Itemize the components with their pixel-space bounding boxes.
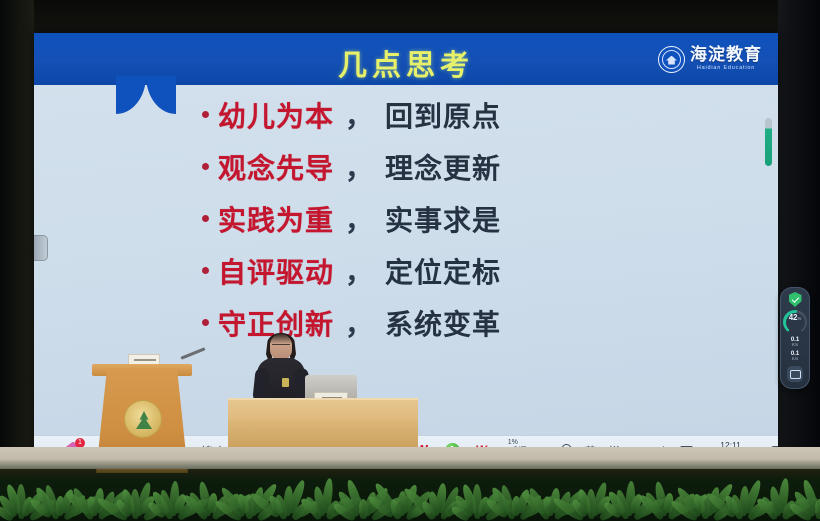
bullet-keyword: 实践为重 [218,199,334,239]
bullet-comma: ， [343,303,376,343]
list-item: 实践为重 ， 实事求是 [202,199,642,251]
logo-name-cn: 海淀教育 [690,47,762,64]
slide-bullet-list: 幼儿为本 ， 回到原点 观念先导 ， 理念更新 实践为重 ， 实事求是 [202,95,642,355]
conference-hall-scene: 几点思考 海淀教育 Haidian Education 幼儿为本 ， 回到原点 … [0,0,820,521]
bullet-keyword: 自评驱动 [218,251,334,291]
haidian-seal-icon [658,46,685,73]
memory-percent-value: 42 [789,313,798,322]
ceiling-shadow [0,0,820,34]
cpu-usage-percent: 1% [499,439,527,446]
shield-check-icon[interactable] [789,292,802,307]
screen-edge-tab-icon[interactable] [34,235,48,261]
memory-percent-symbol: % [797,316,801,321]
scroll-indicator-icon[interactable] [765,118,772,166]
bullet-dot-icon [202,111,209,118]
bullet-detail: 回到原点 [385,95,501,135]
network-upload: 0.1 K/s [791,337,799,348]
bullet-comma: ， [343,95,376,135]
potted-plant [792,469,820,521]
bullet-comma: ， [343,251,376,291]
camera-icon[interactable] [787,366,803,382]
logo-text: 海淀教育 Haidian Education [690,47,762,72]
podium-emblem-icon [124,400,162,438]
presenter-glasses [272,344,290,348]
list-item: 自评驱动 ， 定位定标 [202,251,642,303]
network-download: 0.1 K/s [791,351,799,362]
bullet-comma: ， [343,147,376,187]
list-item: 幼儿为本 ， 回到原点 [202,95,642,147]
plant-row [0,459,820,521]
left-curtain [0,0,34,470]
haidian-education-logo: 海淀教育 Haidian Education [658,42,762,76]
network-upload-unit: K/s [791,343,799,348]
bullet-detail: 定位定标 [385,251,501,291]
status-badge: 1 [75,438,85,448]
bullet-detail: 理念更新 [385,147,501,187]
presenter-badge [282,378,289,387]
bullet-dot-icon [202,215,209,222]
bullet-detail: 系统变革 [385,303,501,343]
presenter [252,334,310,406]
system-monitor-widget[interactable]: 42% 0.1 K/s 0.1 K/s [780,287,810,389]
bullet-comma: ， [343,199,376,239]
list-item: 观念先导 ， 理念更新 [202,147,642,199]
bullet-dot-icon [202,319,209,326]
bullet-dot-icon [202,163,209,170]
right-curtain [778,0,820,470]
bullet-dot-icon [202,267,209,274]
bullet-keyword: 观念先导 [218,147,334,187]
logo-name-en: Haidian Education [690,66,762,72]
bullet-detail: 实事求是 [385,199,501,239]
network-download-unit: K/s [791,357,799,362]
bullet-keyword: 幼儿为本 [218,95,334,135]
memory-gauge: 42% [783,310,807,334]
